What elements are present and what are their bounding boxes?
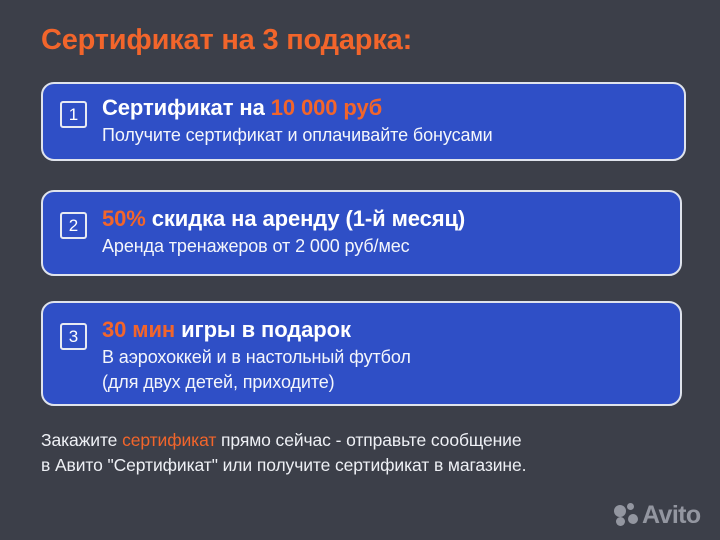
offer-card-2-text: 50% скидка на аренду (1-й месяц) Аренда …: [102, 206, 680, 258]
footer-line-2: в Авито "Сертификат" или получите сертиф…: [41, 453, 691, 478]
offer-card-3-subline-2: (для двух детей, приходите): [102, 371, 680, 394]
offer-card-1: 1 Сертификат на 10 000 руб Получите серт…: [41, 82, 686, 161]
footer-highlight: сертификат: [122, 430, 216, 450]
offer-card-1-text: Сертификат на 10 000 руб Получите сертиф…: [102, 95, 684, 147]
offer-card-3-headline: 30 мин игры в подарок: [102, 317, 680, 344]
avito-logo-icon: [614, 503, 640, 527]
footer-suffix: прямо сейчас - отправьте сообщение: [216, 430, 521, 450]
headline-prefix: Сертификат на: [102, 95, 271, 120]
offer-card-3: 3 30 мин игры в подарок В аэрохоккей и в…: [41, 301, 682, 406]
offer-number-badge: 2: [60, 212, 87, 239]
avito-dot-medium: [616, 517, 625, 526]
avito-dot-large: [614, 505, 626, 517]
offer-card-1-headline: Сертификат на 10 000 руб: [102, 95, 684, 122]
footer-prefix: Закажите: [41, 430, 122, 450]
offer-card-1-subline-1: Получите сертификат и оплачивайте бонуса…: [102, 124, 684, 147]
footer-line-1: Закажите сертификат прямо сейчас - отпра…: [41, 428, 691, 453]
headline-suffix: игры в подарок: [175, 317, 351, 342]
headline-highlight: 50%: [102, 206, 146, 231]
avito-dot-medium-2: [628, 514, 638, 524]
page-title: Сертификат на 3 подарка:: [41, 24, 412, 57]
headline-suffix: скидка на аренду (1-й месяц): [146, 206, 465, 231]
promo-poster: Сертификат на 3 подарка: 1 Сертификат на…: [0, 0, 720, 540]
offer-card-2-headline: 50% скидка на аренду (1-й месяц): [102, 206, 680, 233]
offer-number-badge: 1: [60, 101, 87, 128]
avito-watermark: Avito: [614, 503, 701, 527]
offer-card-3-subline-1: В аэрохоккей и в настольный футбол: [102, 346, 680, 369]
offer-number-badge: 3: [60, 323, 87, 350]
offer-card-2: 2 50% скидка на аренду (1-й месяц) Аренд…: [41, 190, 682, 276]
avito-dot-small: [627, 503, 634, 510]
avito-wordmark: Avito: [642, 503, 701, 527]
footer-instructions: Закажите сертификат прямо сейчас - отпра…: [41, 428, 691, 478]
headline-highlight: 30 мин: [102, 317, 175, 342]
offer-card-3-text: 30 мин игры в подарок В аэрохоккей и в н…: [102, 317, 680, 394]
offer-card-2-subline-1: Аренда тренажеров от 2 000 руб/мес: [102, 235, 680, 258]
headline-highlight: 10 000 руб: [271, 95, 382, 120]
